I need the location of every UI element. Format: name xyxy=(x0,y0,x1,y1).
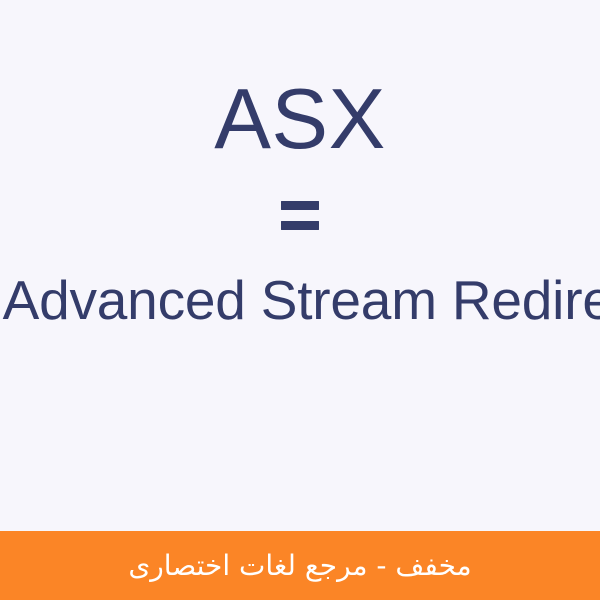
abbreviation-meaning: The Advanced Stream Redirector xyxy=(0,270,600,332)
equals-symbol xyxy=(281,198,319,232)
definition-card: ASX The Advanced Stream Redirector xyxy=(0,0,600,531)
abbreviation-definition-page: ASX The Advanced Stream Redirector مخفف … xyxy=(0,0,600,600)
equals-icon xyxy=(281,201,319,230)
equals-bar-top xyxy=(281,201,319,210)
site-footer: مخفف - مرجع لغات اختصاری xyxy=(0,531,600,600)
abbreviation-title: ASX xyxy=(214,77,386,162)
footer-branding-text: مخفف - مرجع لغات اختصاری xyxy=(128,552,471,580)
equals-bar-bottom xyxy=(281,221,319,230)
